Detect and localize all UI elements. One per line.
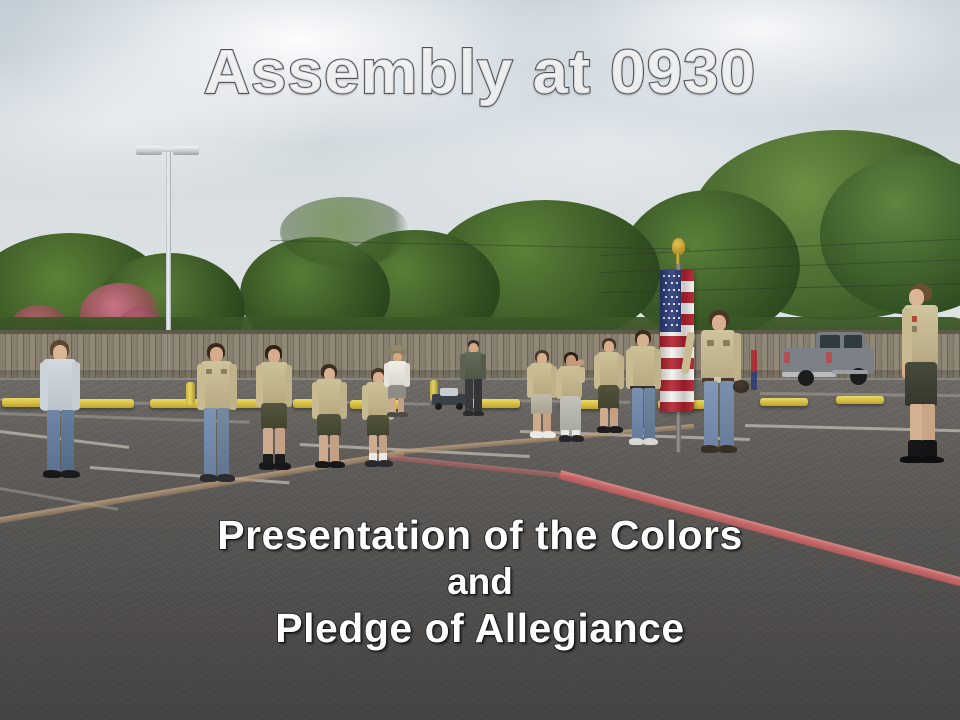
uniform-patch <box>723 340 730 346</box>
person-scout-6 <box>594 338 624 438</box>
arm-left <box>312 382 319 419</box>
secondary-flag <box>751 350 757 390</box>
arm-left <box>197 364 205 410</box>
leg-left <box>533 413 541 433</box>
torso-shirt <box>387 361 407 387</box>
person-scout-1 <box>196 343 238 491</box>
campaign-hat-crown <box>392 345 402 351</box>
truck-window <box>844 335 862 349</box>
leg-right <box>720 381 734 447</box>
arm-left <box>40 362 48 410</box>
leg-left <box>319 435 328 463</box>
torso-polo <box>463 352 483 380</box>
arm-right <box>733 333 741 381</box>
shoe-right <box>397 412 408 417</box>
arm-left <box>556 369 562 399</box>
truck-taillight <box>826 352 832 363</box>
leg-right <box>330 435 339 463</box>
light-pole-head-right <box>173 146 199 155</box>
uniform-patch <box>221 369 227 374</box>
arm-right <box>229 364 237 410</box>
person-scout-5 <box>527 350 557 445</box>
torso-uniform-shirt <box>530 363 553 397</box>
caption-line-1: Presentation of the Colors <box>0 515 960 557</box>
person-scout-2 <box>255 345 293 478</box>
arm-right <box>618 355 624 389</box>
truck-taillight <box>784 352 790 363</box>
shoe-right <box>329 461 345 468</box>
leg-right <box>543 413 551 433</box>
arm-right <box>405 363 410 387</box>
shorts <box>388 385 406 399</box>
boot-sole-right <box>918 456 944 463</box>
pickup-truck <box>782 330 882 388</box>
shoe-left <box>701 445 719 453</box>
arm-left <box>362 385 368 420</box>
shoe-left <box>629 438 644 445</box>
arm-right <box>654 349 661 389</box>
arm-left <box>626 349 633 389</box>
uniform-patch <box>206 369 212 374</box>
shoe-left <box>43 470 62 478</box>
arm-left <box>256 365 263 407</box>
caption-line-2: and <box>0 563 960 601</box>
shorts <box>531 394 552 414</box>
person-onlooker-gray-shirt <box>38 340 84 485</box>
truck-rocker <box>832 370 868 374</box>
person-adult-green-polo <box>460 340 486 420</box>
shoe-right <box>61 470 80 478</box>
leg-right <box>644 388 655 440</box>
arm-right <box>72 362 80 410</box>
person-flag-bearer <box>697 310 743 465</box>
shoe-right <box>571 435 584 442</box>
held-hat <box>733 380 749 393</box>
caption-line-3: Pledge of Allegiance <box>0 608 960 650</box>
leg-left <box>204 408 216 476</box>
leg-right <box>61 410 74 472</box>
arm-left <box>594 355 600 389</box>
arm-right <box>285 365 292 407</box>
torso-uniform-shirt <box>260 362 288 406</box>
arm-left <box>384 363 389 387</box>
shoe-right <box>719 445 737 453</box>
shoe-right <box>643 438 658 445</box>
shoe-right <box>274 462 291 470</box>
torso-uniform-shirt <box>629 346 656 388</box>
leg-right <box>217 408 229 476</box>
shorts <box>905 362 937 406</box>
torso-uniform-shirt <box>701 330 735 380</box>
uniform-patch <box>707 340 714 346</box>
shoe-right <box>217 474 235 482</box>
leg-right <box>610 408 618 428</box>
leg-left <box>465 379 473 413</box>
shoe-right <box>542 431 556 438</box>
person-scout-saluting <box>556 352 586 445</box>
person-scout-leader-right <box>898 284 946 472</box>
parking-bumper <box>836 396 884 404</box>
head <box>712 315 726 331</box>
person-scout-7 <box>626 330 660 455</box>
leg-left <box>632 388 643 440</box>
sweatpants <box>560 396 581 434</box>
leg-left <box>47 410 60 472</box>
shoe-right <box>378 460 393 467</box>
leg-right <box>474 379 482 413</box>
arm-left <box>527 366 533 398</box>
arm-right <box>481 354 486 380</box>
arm-left <box>460 354 465 380</box>
leg-left <box>704 381 718 447</box>
shoe-right <box>473 411 484 416</box>
head <box>268 349 280 363</box>
slide-title: Assembly at 0930 <box>0 42 960 104</box>
head <box>909 289 924 306</box>
person-scout-3 <box>312 364 346 478</box>
light-pole-head-left <box>136 146 162 155</box>
shorts <box>317 414 341 436</box>
shorts <box>598 385 619 409</box>
torso-uniform-shirt <box>597 352 620 388</box>
person-adult-white-shirt-hat <box>384 348 410 422</box>
shoe-right <box>609 426 623 433</box>
leg-left <box>600 408 608 428</box>
shorts <box>261 403 287 429</box>
arm-near <box>902 308 912 368</box>
truck-wheel <box>798 370 814 386</box>
head <box>210 347 223 362</box>
arm-right-raised <box>579 367 585 383</box>
parking-bumper <box>760 398 808 406</box>
arm-right <box>340 382 347 419</box>
truck-window <box>820 335 840 349</box>
photo-slide: Assembly at 0930 Presentation of the Col… <box>0 0 960 720</box>
torso-uniform-shirt <box>316 379 342 417</box>
parking-bumper <box>78 399 134 408</box>
shoe-left <box>200 474 218 482</box>
yellow-bollard <box>186 382 195 404</box>
